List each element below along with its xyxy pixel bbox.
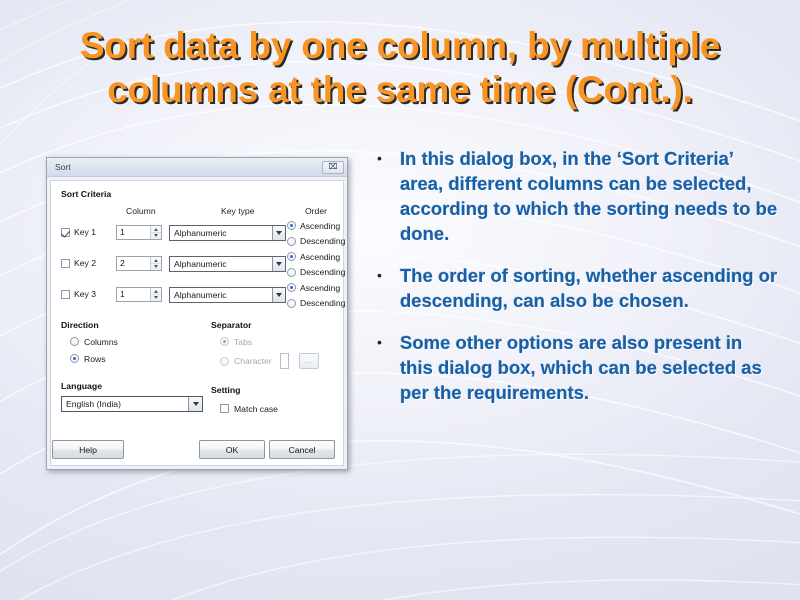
separator-character-radio — [220, 357, 229, 366]
header-column: Column — [126, 206, 156, 216]
match-case-label: Match case — [234, 404, 278, 414]
bullet-text: Some other options are also present in t… — [400, 330, 780, 405]
match-case-checkbox[interactable] — [220, 404, 229, 413]
chevron-down-icon[interactable] — [272, 288, 285, 302]
dialog-button-row: Help OK Cancel — [51, 440, 343, 459]
separator-tabs-option: Tabs — [220, 333, 341, 350]
key-2-ascending-radio[interactable] — [287, 252, 296, 261]
key-2-column-stepper[interactable]: 2 — [116, 256, 162, 271]
direction-columns-radio[interactable] — [70, 337, 79, 346]
key-1-column-value[interactable]: 1 — [117, 226, 150, 239]
separator-tabs-radio — [220, 337, 229, 346]
direction-columns-option[interactable]: Columns — [70, 333, 211, 350]
key-2-column-value[interactable]: 2 — [117, 257, 150, 270]
key-1-descending-option[interactable]: Descending — [287, 234, 362, 250]
help-button[interactable]: Help — [52, 440, 124, 459]
key-2-key-type-select[interactable]: Alphanumeric — [169, 256, 286, 272]
key-1-toggle[interactable]: Key 1 — [61, 227, 96, 237]
key-3-ascending-label: Ascending — [300, 283, 340, 293]
bullet-dot-icon: • — [370, 330, 400, 405]
key-1-checkbox[interactable] — [61, 228, 70, 237]
key-3-ascending-radio[interactable] — [287, 283, 296, 292]
key-2-descending-label: Descending — [300, 267, 345, 277]
bullet-text: The order of sorting, whether ascending … — [400, 263, 780, 313]
key-3-column-value[interactable]: 1 — [117, 288, 150, 301]
key-3-ascending-option[interactable]: Ascending — [287, 280, 362, 296]
key-3-checkbox[interactable] — [61, 290, 70, 299]
bullet-text: In this dialog box, in the ‘Sort Criteri… — [400, 146, 780, 246]
spinner-down-icon[interactable] — [151, 233, 161, 240]
key-1-ascending-label: Ascending — [300, 221, 340, 231]
separator-and-setting-column: Separator Tabs Character ... Setting Mat… — [211, 320, 341, 417]
key-3-descending-option[interactable]: Descending — [287, 296, 362, 312]
dialog-lower-section: Direction Columns Rows Language English … — [61, 320, 333, 438]
separator-group-label: Separator — [211, 320, 341, 330]
match-case-option[interactable]: Match case — [220, 400, 341, 417]
key-3-descending-label: Descending — [300, 298, 345, 308]
sort-criteria-group-label: Sort Criteria — [61, 189, 333, 199]
key-2-toggle[interactable]: Key 2 — [61, 258, 96, 268]
separator-browse-button: ... — [299, 353, 319, 369]
key-3-toggle[interactable]: Key 3 — [61, 289, 96, 299]
direction-and-language-column: Direction Columns Rows Language English … — [61, 320, 211, 412]
key-2-descending-option[interactable]: Descending — [287, 265, 362, 281]
spinner-down-icon[interactable] — [151, 295, 161, 302]
order-radio-column: Ascending Descending Ascending Descendin… — [287, 218, 362, 311]
header-order: Order — [305, 206, 327, 216]
setting-group-label: Setting — [211, 385, 341, 395]
dialog-title: Sort — [55, 162, 322, 172]
separator-character-input — [280, 353, 289, 369]
key-3-column-spinner-arrows[interactable] — [150, 288, 161, 301]
close-icon[interactable]: ⌧ — [322, 161, 344, 174]
language-value: English (India) — [62, 397, 188, 411]
direction-group-label: Direction — [61, 320, 211, 330]
chevron-down-icon[interactable] — [272, 226, 285, 240]
separator-tabs-label: Tabs — [234, 337, 252, 347]
key-2-ascending-option[interactable]: Ascending — [287, 249, 362, 265]
separator-character-label: Character — [234, 356, 272, 366]
key-3-key-type-select[interactable]: Alphanumeric — [169, 287, 286, 303]
key-1-key-type-select[interactable]: Alphanumeric — [169, 225, 286, 241]
key-1-column-spinner-arrows[interactable] — [150, 226, 161, 239]
language-select[interactable]: English (India) — [61, 396, 203, 412]
key-2-key-type-value: Alphanumeric — [170, 257, 272, 271]
chevron-down-icon[interactable] — [272, 257, 285, 271]
sort-dialog: Sort ⌧ Sort Criteria Column Key type Ord… — [46, 157, 348, 470]
chevron-down-icon[interactable] — [188, 397, 202, 411]
bullet-dot-icon: • — [370, 146, 400, 246]
key-3-descending-radio[interactable] — [287, 299, 296, 308]
ok-button[interactable]: OK — [199, 440, 265, 459]
key-3-column-stepper[interactable]: 1 — [116, 287, 162, 302]
direction-columns-label: Columns — [84, 337, 118, 347]
dialog-body: Sort Criteria Column Key type Order Key … — [50, 180, 344, 466]
key-1-column-stepper[interactable]: 1 — [116, 225, 162, 240]
key-2-descending-radio[interactable] — [287, 268, 296, 277]
key-1-ascending-option[interactable]: Ascending — [287, 218, 362, 234]
key-1-label: Key 1 — [74, 227, 96, 237]
key-1-descending-label: Descending — [300, 236, 345, 246]
key-2-checkbox[interactable] — [61, 259, 70, 268]
list-item: • Some other options are also present in… — [370, 330, 780, 405]
direction-rows-label: Rows — [84, 354, 106, 364]
key-1-descending-radio[interactable] — [287, 237, 296, 246]
bullet-dot-icon: • — [370, 263, 400, 313]
list-item: • The order of sorting, whether ascendin… — [370, 263, 780, 313]
spinner-down-icon[interactable] — [151, 264, 161, 271]
cancel-button[interactable]: Cancel — [269, 440, 335, 459]
key-1-key-type-value: Alphanumeric — [170, 226, 272, 240]
header-key-type: Key type — [221, 206, 254, 216]
direction-rows-radio[interactable] — [70, 354, 79, 363]
language-group-label: Language — [61, 381, 211, 391]
bullet-list: • In this dialog box, in the ‘Sort Crite… — [370, 146, 780, 405]
list-item: • In this dialog box, in the ‘Sort Crite… — [370, 146, 780, 246]
key-2-label: Key 2 — [74, 258, 96, 268]
direction-rows-option[interactable]: Rows — [70, 350, 211, 367]
key-3-label: Key 3 — [74, 289, 96, 299]
separator-character-option: Character ... — [220, 350, 341, 372]
key-3-key-type-value: Alphanumeric — [170, 288, 272, 302]
key-1-ascending-radio[interactable] — [287, 221, 296, 230]
dialog-titlebar: Sort ⌧ — [47, 158, 347, 177]
key-2-ascending-label: Ascending — [300, 252, 340, 262]
key-2-column-spinner-arrows[interactable] — [150, 257, 161, 270]
slide-title: Sort data by one column, by multiple col… — [24, 24, 776, 111]
